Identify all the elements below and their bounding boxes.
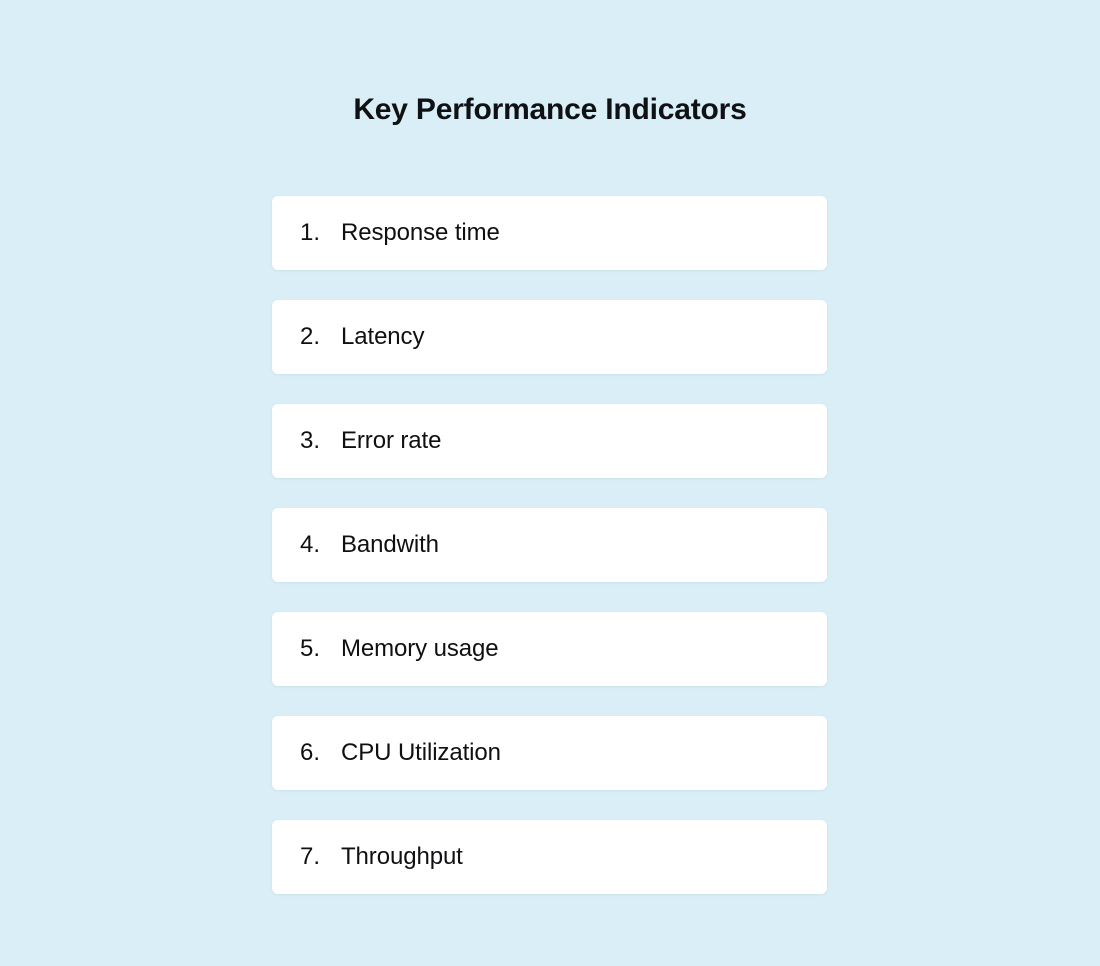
list-item[interactable]: 7. Throughput (272, 820, 827, 894)
list-item-label: Bandwith (341, 531, 439, 559)
kpi-list: 1. Response time 2. Latency 3. Error rat… (272, 196, 827, 894)
list-item-number: 4. (300, 531, 341, 559)
list-item-label: CPU Utilization (341, 739, 501, 767)
list-item[interactable]: 1. Response time (272, 196, 827, 270)
list-item-number: 6. (300, 739, 341, 767)
list-item-label: Error rate (341, 427, 441, 455)
list-item[interactable]: 5. Memory usage (272, 612, 827, 686)
list-item[interactable]: 2. Latency (272, 300, 827, 374)
list-item[interactable]: 4. Bandwith (272, 508, 827, 582)
list-item-label: Throughput (341, 843, 463, 871)
list-item[interactable]: 6. CPU Utilization (272, 716, 827, 790)
list-item-number: 5. (300, 635, 341, 663)
kpi-page: Key Performance Indicators 1. Response t… (0, 0, 1100, 966)
page-title: Key Performance Indicators (272, 90, 828, 130)
list-item-number: 1. (300, 219, 341, 247)
list-item-number: 2. (300, 323, 341, 351)
list-item-number: 7. (300, 843, 341, 871)
list-item-label: Memory usage (341, 635, 499, 663)
list-item-number: 3. (300, 427, 341, 455)
list-item-label: Latency (341, 323, 424, 351)
list-item-label: Response time (341, 219, 500, 247)
list-item[interactable]: 3. Error rate (272, 404, 827, 478)
